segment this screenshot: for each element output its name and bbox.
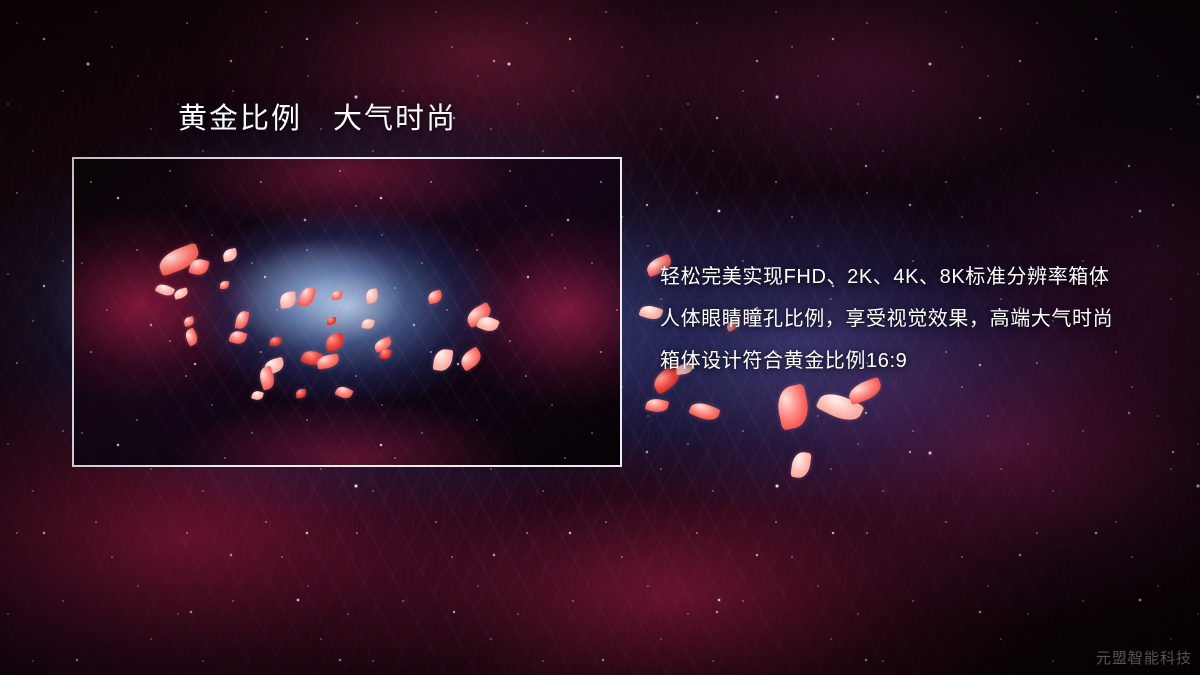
watermark: 元盟智能科技 xyxy=(1096,647,1192,668)
page-title: 黄金比例 大气时尚 xyxy=(178,100,457,139)
picture-frame xyxy=(72,157,622,467)
body-line-2: 人体眼睛瞳孔比例，享受视觉效果，高端大气时尚 xyxy=(660,298,1180,340)
frame-starfield-medium xyxy=(74,159,620,465)
body-line-1: 轻松完美实现FHD、2K、4K、8K标准分辨率箱体 xyxy=(660,256,1180,298)
body-text-block: 轻松完美实现FHD、2K、4K、8K标准分辨率箱体 人体眼睛瞳孔比例，享受视觉效… xyxy=(660,256,1180,382)
presentation-slide: 黄金比例 大气时尚 轻松完美实现FHD、2K、4K、8K标准分辨率箱体 人体眼睛… xyxy=(0,0,1200,675)
body-line-3: 箱体设计符合黄金比例16:9 xyxy=(660,340,1180,382)
